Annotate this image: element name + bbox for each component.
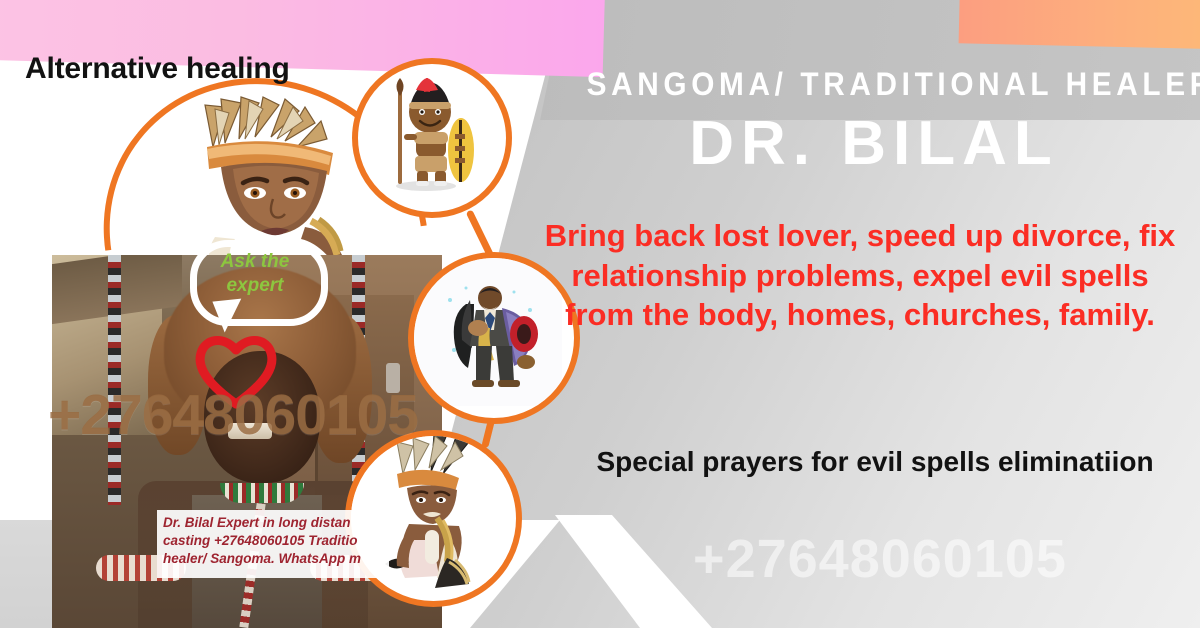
- brand-name: DR. BILAL: [565, 108, 1183, 179]
- speech-bubble-text: Ask the expert: [200, 250, 310, 298]
- poster-canvas: Alternative healing: [0, 0, 1200, 628]
- caption-line-2: casting +27648060105 Traditio: [163, 532, 383, 550]
- badge-circle-zulu-warrior[interactable]: [352, 58, 512, 218]
- special-offer-text: Special prayers for evil spells eliminat…: [570, 444, 1180, 480]
- photo-bead-strand-left: [108, 255, 121, 505]
- photo-caption-box: Dr. Bilal Expert in long distan casting …: [157, 510, 389, 578]
- zulu-warrior-illustration: [358, 64, 494, 200]
- caption-line-1: Dr. Bilal Expert in long distan: [163, 514, 383, 532]
- services-text: Bring back lost lover, speed up divorce,…: [540, 216, 1180, 335]
- orange-accent-bar: [959, 0, 1200, 49]
- photo-phone-watermark: +27648060105: [48, 382, 418, 448]
- page-title: Alternative healing: [25, 52, 290, 86]
- caption-line-3: healer/ Sangoma. WhatsApp m: [163, 550, 383, 568]
- photo-beaded-necklace: [220, 483, 304, 503]
- kicker-text: SANGOMA/ TRADITIONAL HEALER: [587, 66, 1162, 103]
- phone-watermark: +27648060105: [565, 528, 1195, 590]
